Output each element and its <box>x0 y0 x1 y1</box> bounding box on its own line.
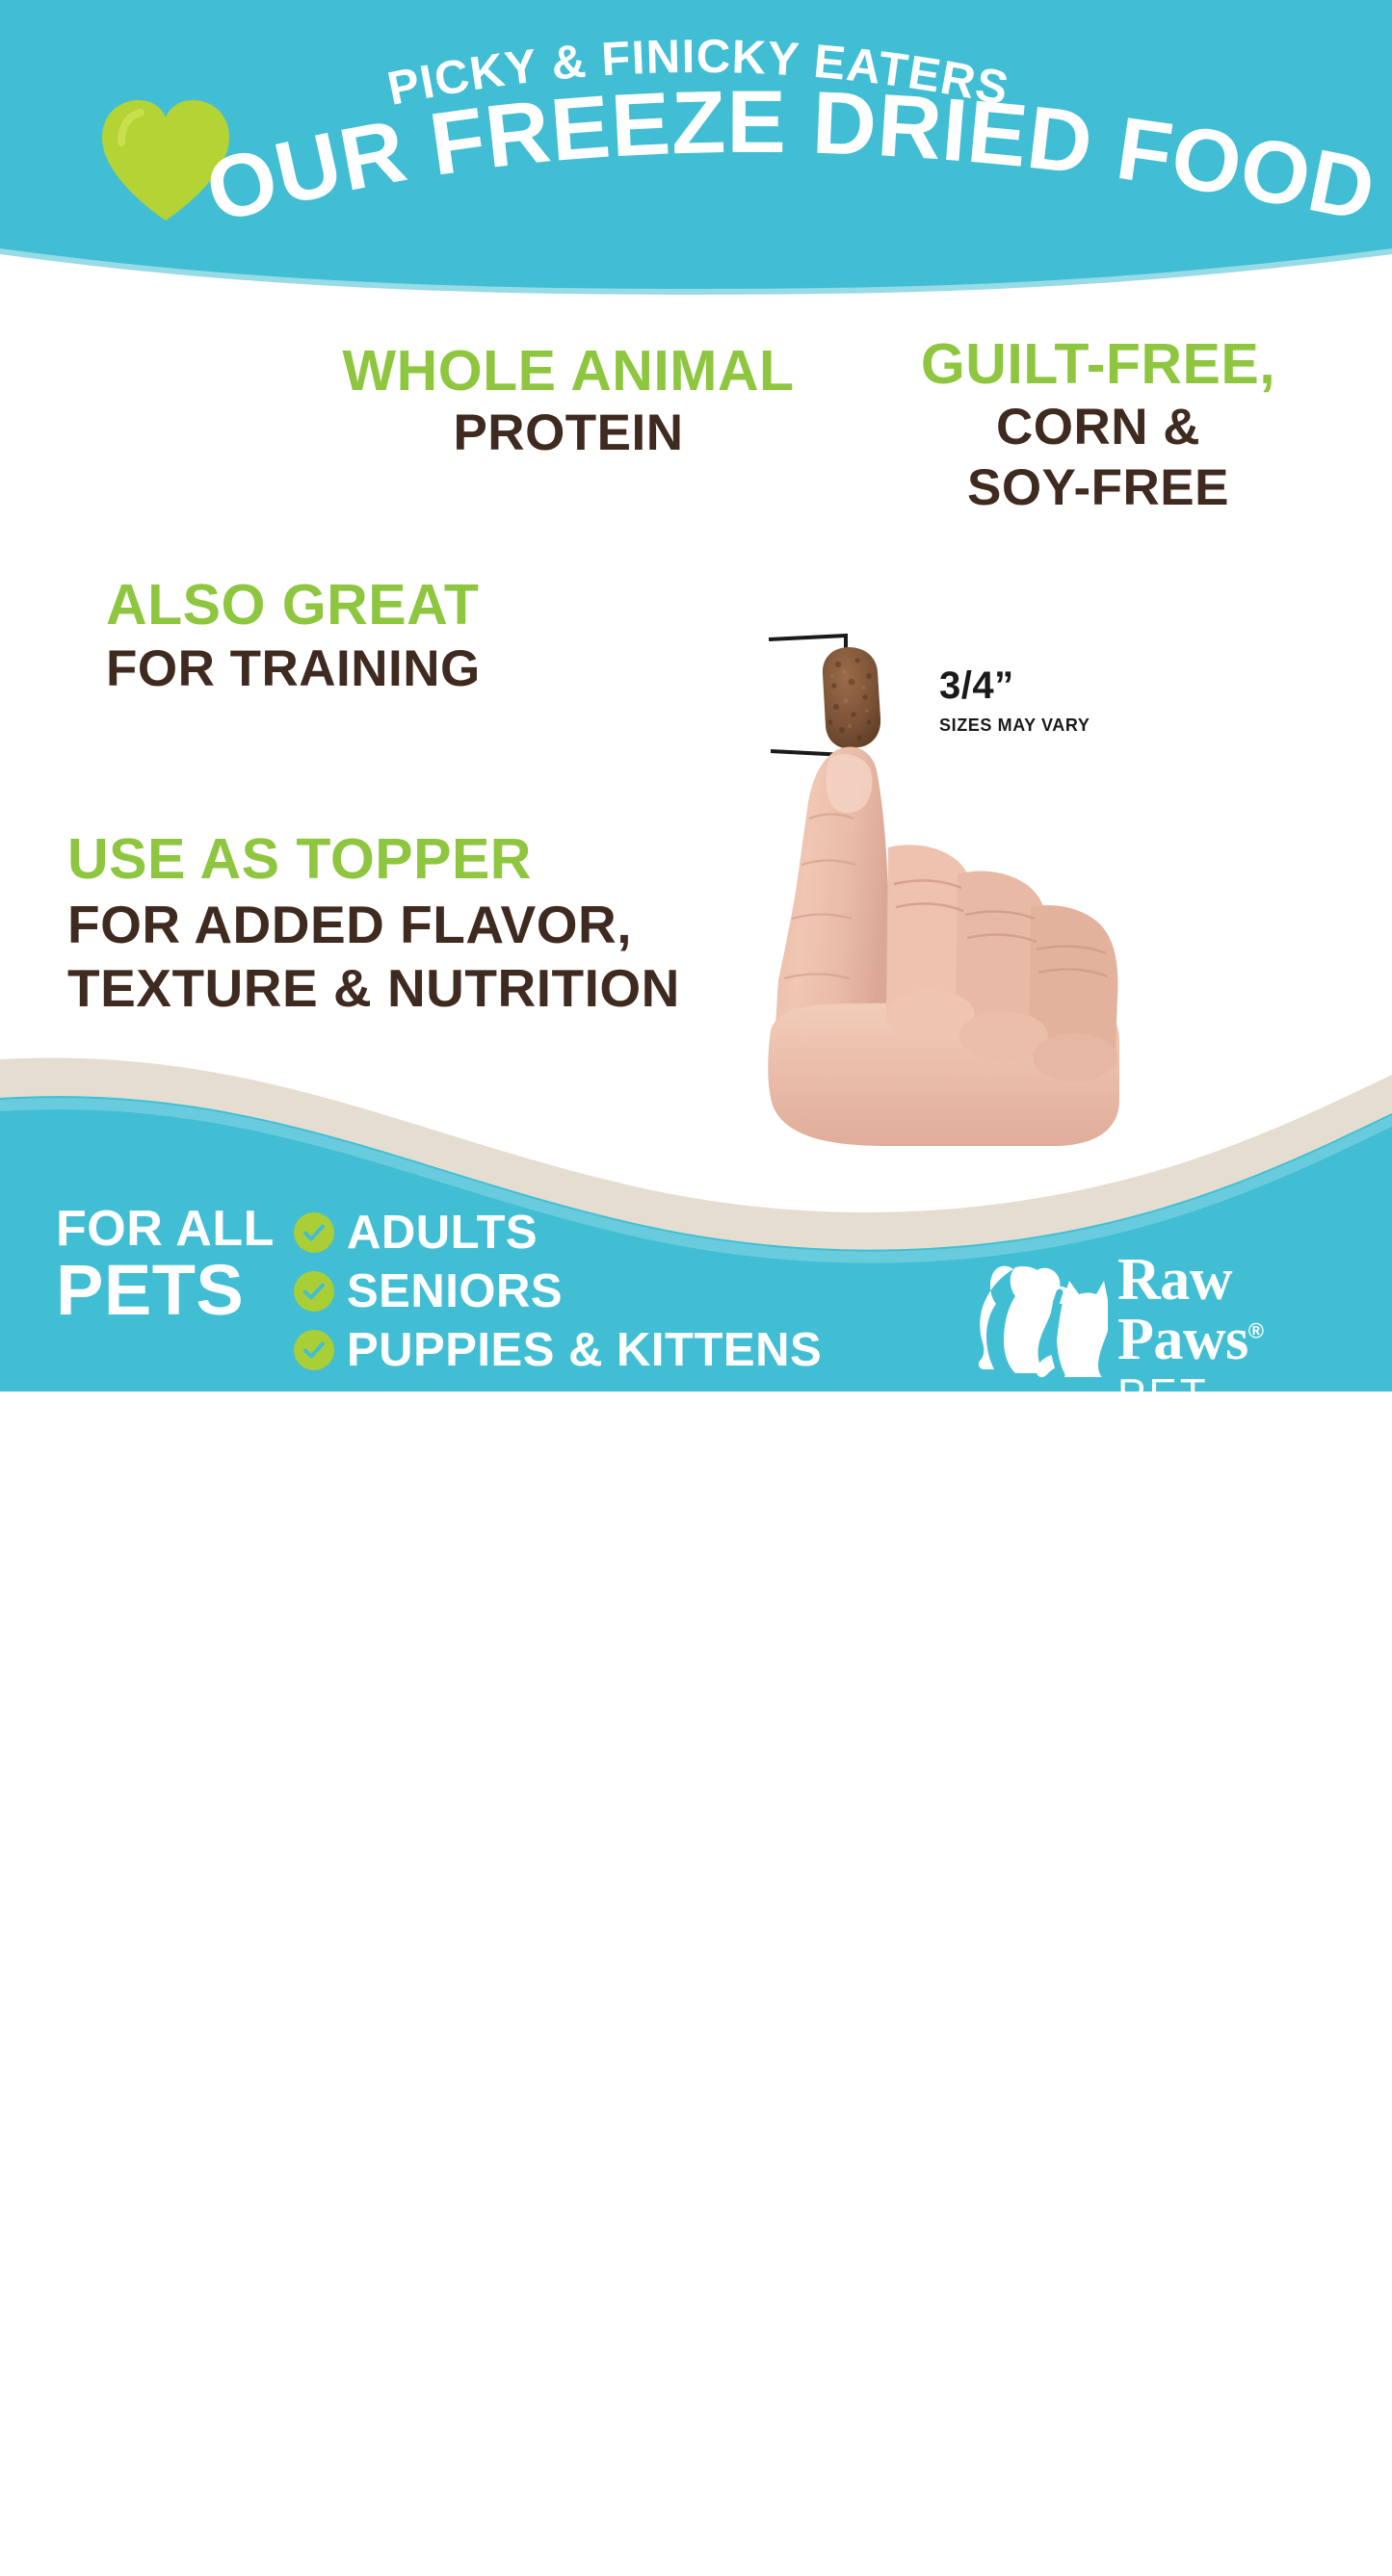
footer-headline: FOR ALL PETS <box>56 1206 275 1324</box>
registered-trademark-icon: ® <box>1248 1318 1264 1342</box>
feature-subline-1: FOR ADDED FLAVOR, <box>67 898 680 951</box>
list-item: ADULTS <box>294 1208 822 1258</box>
footer-headline-line2: PETS <box>56 1256 275 1324</box>
feature-headline: ALSO GREAT <box>106 576 481 634</box>
pet-type-label: PUPPIES & KITTENS <box>347 1327 822 1374</box>
feature-subline: PROTEIN <box>342 407 795 459</box>
brand-tagline-text: PET FOOD <box>1117 1373 1321 1458</box>
heart-icon <box>96 94 236 224</box>
footer-divider <box>890 2443 897 2576</box>
check-icon <box>294 1271 334 1312</box>
feature-also-great-for-training: ALSO GREAT FOR TRAINING <box>106 576 481 695</box>
brand-tagline: PET FOOD <box>1117 1373 1378 1458</box>
feature-subline-1: CORN & <box>896 402 1300 454</box>
measurement-note: SIZES MAY VARY <box>939 716 1090 736</box>
brand-logo-text: Raw Paws® PET FOOD <box>1117 1250 1378 1458</box>
footer-headline-line1: FOR ALL <box>56 1206 275 1254</box>
feature-headline: WHOLE ANIMAL <box>342 342 795 400</box>
feature-subline-2: SOY-FREE <box>896 462 1300 514</box>
fingernail <box>827 754 873 813</box>
freeze-dried-treat-nugget <box>823 647 880 748</box>
brand-name-text: Raw Paws <box>1117 1247 1248 1372</box>
feature-subline: FOR TRAINING <box>106 643 481 695</box>
feature-headline: USE AS TOPPER <box>67 830 680 888</box>
list-item: SENIORS <box>294 1266 822 1316</box>
measurement-label: 3/4” SIZES MAY VARY <box>939 666 1090 736</box>
check-icon <box>294 1212 334 1253</box>
brand-logo[interactable]: Raw Paws® PET FOOD <box>963 1250 1378 1385</box>
feature-use-as-topper: USE AS TOPPER FOR ADDED FLAVOR, TEXTURE … <box>67 830 680 1015</box>
paw-print-icon <box>1333 1392 1378 1440</box>
feature-subline-2: TEXTURE & NUTRITION <box>67 961 680 1015</box>
feature-whole-animal-protein: WHOLE ANIMAL PROTEIN <box>342 342 795 459</box>
brand-name: Raw Paws® <box>1117 1250 1378 1369</box>
pet-type-label: SENIORS <box>347 1268 563 1315</box>
measurement-size: 3/4” <box>939 666 1090 705</box>
check-icon <box>294 1330 334 1370</box>
dog-and-cat-silhouette-icon <box>963 1254 1108 1389</box>
pet-type-label: ADULTS <box>347 1210 538 1257</box>
feature-guilt-free: GUILT-FREE, CORN & SOY-FREE <box>896 335 1300 514</box>
pet-type-list: ADULTS SENIORS PUPPIES & KITTENS <box>294 1208 822 1384</box>
poster-canvas: PICKY & FINICKY EATERS OUR FREEZE DRIED … <box>0 0 1392 1392</box>
feature-headline: GUILT-FREE, <box>896 335 1300 393</box>
list-item: PUPPIES & KITTENS <box>294 1325 822 1375</box>
